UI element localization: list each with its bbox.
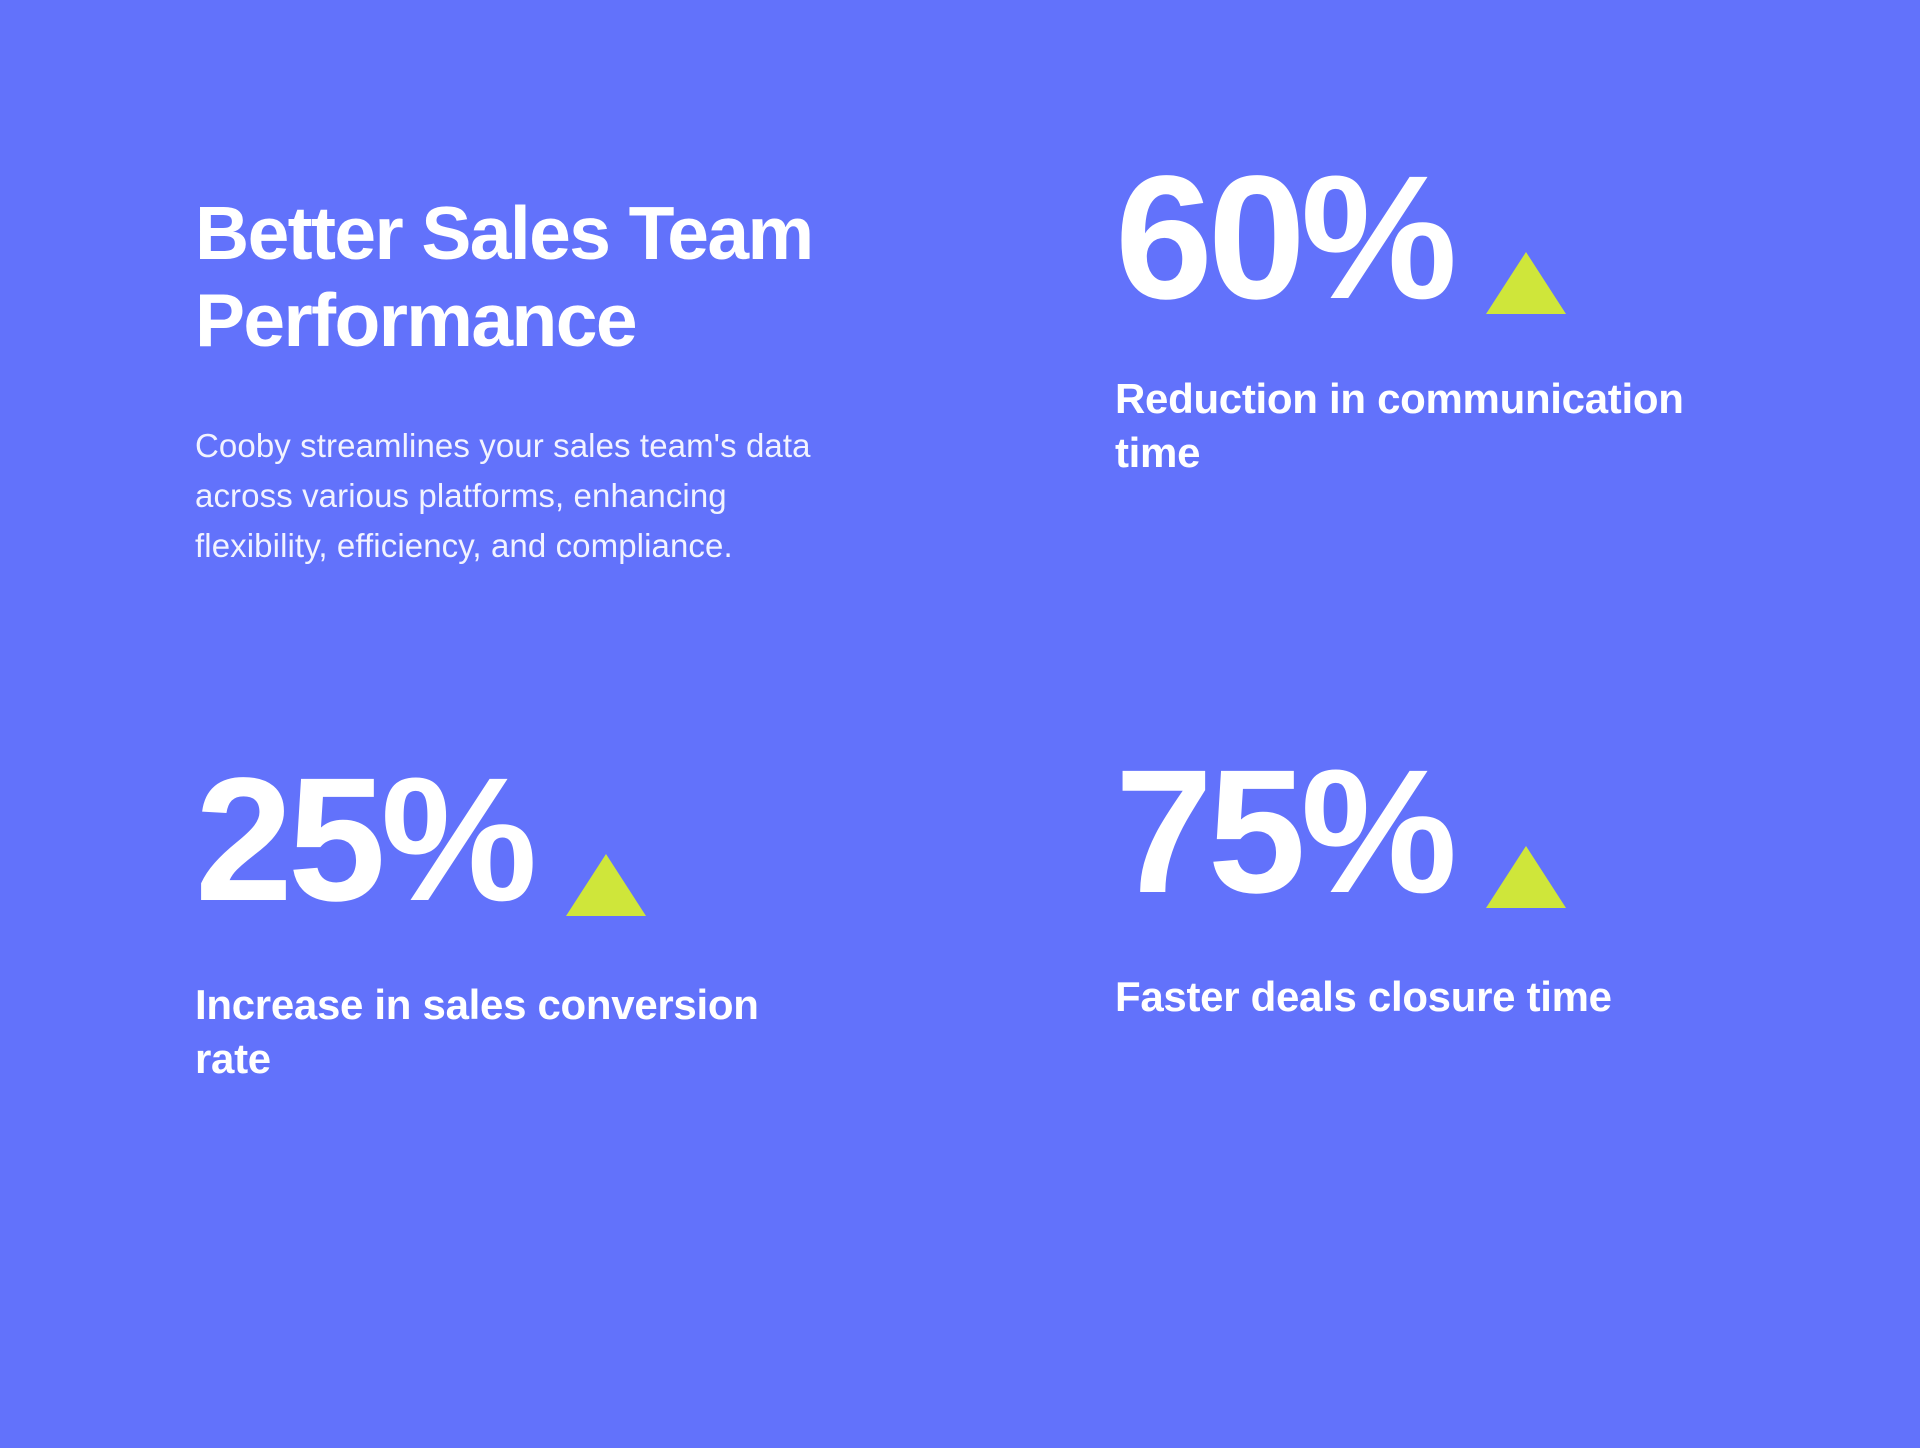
intro-block: Better Sales Team Performance Cooby stre… <box>195 0 1115 740</box>
stat-value: 60% <box>1115 150 1452 326</box>
trend-up-triangle-icon <box>566 854 646 916</box>
stat-value: 25% <box>195 752 532 928</box>
stat-card-conversion: 25% Increase in sales conversion rate <box>195 740 1115 1448</box>
stat-card-reduction: 60% Reduction in communication time <box>1115 0 1765 740</box>
page-title: Better Sales Team Performance <box>195 190 895 364</box>
intro-description: Cooby streamlines your sales team's data… <box>195 364 815 571</box>
stat-value-row: 60% <box>1115 150 1566 326</box>
stat-card-closure: 75% Faster deals closure time <box>1115 740 1765 1448</box>
stat-value: 75% <box>1115 744 1452 920</box>
trend-up-triangle-icon <box>1486 846 1566 908</box>
stats-poster: Better Sales Team Performance Cooby stre… <box>0 0 1920 1448</box>
stat-label: Reduction in communication time <box>1115 326 1735 480</box>
stat-label: Increase in sales conversion rate <box>195 928 815 1086</box>
stats-grid: Better Sales Team Performance Cooby stre… <box>195 0 1765 1448</box>
stat-value-row: 25% <box>195 752 646 928</box>
stat-value-row: 75% <box>1115 744 1566 920</box>
trend-up-triangle-icon <box>1486 252 1566 314</box>
stat-label: Faster deals closure time <box>1115 920 1612 1024</box>
